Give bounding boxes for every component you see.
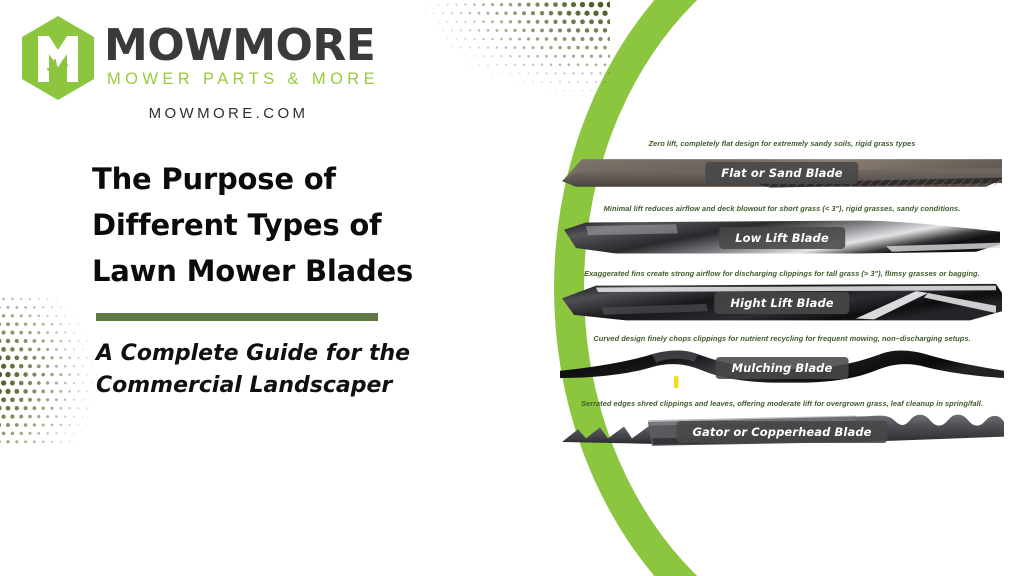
blade-caption: Exaggerated fins create strong airflow f… — [556, 270, 1008, 279]
blade-label: Low Lift Blade — [719, 227, 845, 249]
logo-tagline: MOWER PARTS & MORE — [104, 67, 379, 92]
blade-label: Gator or Copperhead Blade — [676, 421, 887, 443]
blade-illustration-low-lift: Low Lift Blade — [556, 217, 1008, 259]
page-title-line-2: Different Types of — [92, 203, 492, 249]
blade-illustration-gator: Gator or Copperhead Blade — [556, 411, 1008, 453]
blade-illustration-high-lift: Hight Lift Blade — [556, 282, 1008, 324]
slide-canvas: MOWMORE MOWER PARTS & MORE MOWMORE.COM T… — [0, 0, 1024, 576]
title-divider-rule — [96, 313, 378, 321]
blade-row: Zero lift, completely flat design for ex… — [556, 140, 1008, 194]
blade-row: Curved design finely chops clippings for… — [556, 335, 1008, 389]
blade-label: Flat or Sand Blade — [705, 162, 858, 184]
page-title: The Purpose of Different Types of Lawn M… — [92, 157, 492, 294]
blade-caption: Zero lift, completely flat design for ex… — [556, 140, 1008, 149]
logo-text-column: MOWMORE MOWER PARTS & MORE — [104, 25, 379, 92]
page-subtitle-line-1: A Complete Guide for the — [96, 338, 496, 370]
blade-row: Minimal lift reduces airflow and deck bl… — [556, 205, 1008, 259]
blade-caption: Serrated edges shred clippings and leave… — [556, 400, 1008, 409]
blade-row: Exaggerated fins create strong airflow f… — [556, 270, 1008, 324]
blade-caption: Minimal lift reduces airflow and deck bl… — [556, 205, 1008, 214]
page-subtitle: A Complete Guide for the Commercial Land… — [96, 338, 496, 402]
blade-label: Hight Lift Blade — [714, 292, 849, 314]
logo-wordmark: MOWMORE — [104, 25, 379, 67]
halftone-dots-top-decoration — [414, 0, 610, 110]
blade-illustration-mulching: Mulching Blade — [556, 347, 1008, 389]
page-subtitle-line-2: Commercial Landscaper — [96, 370, 496, 402]
blade-label: Mulching Blade — [716, 357, 849, 379]
brand-logo[interactable]: MOWMORE MOWER PARTS & MORE MOWMORE.COM — [18, 14, 379, 122]
blade-illustration-flat: Flat or Sand Blade — [556, 152, 1008, 194]
halftone-dots-bottomleft-decoration — [0, 296, 110, 446]
logo-row: MOWMORE MOWER PARTS & MORE — [18, 14, 379, 102]
blade-row: Serrated edges shred clippings and leave… — [556, 400, 1008, 454]
blade-caption: Curved design finely chops clippings for… — [556, 335, 1008, 344]
hexagon-grass-logo-icon — [18, 14, 98, 102]
page-title-line-1: The Purpose of — [92, 157, 492, 203]
blade-types-diagram: Zero lift, completely flat design for ex… — [556, 140, 1008, 440]
page-title-line-3: Lawn Mower Blades — [92, 249, 492, 295]
logo-website-url: MOWMORE.COM — [18, 105, 379, 122]
